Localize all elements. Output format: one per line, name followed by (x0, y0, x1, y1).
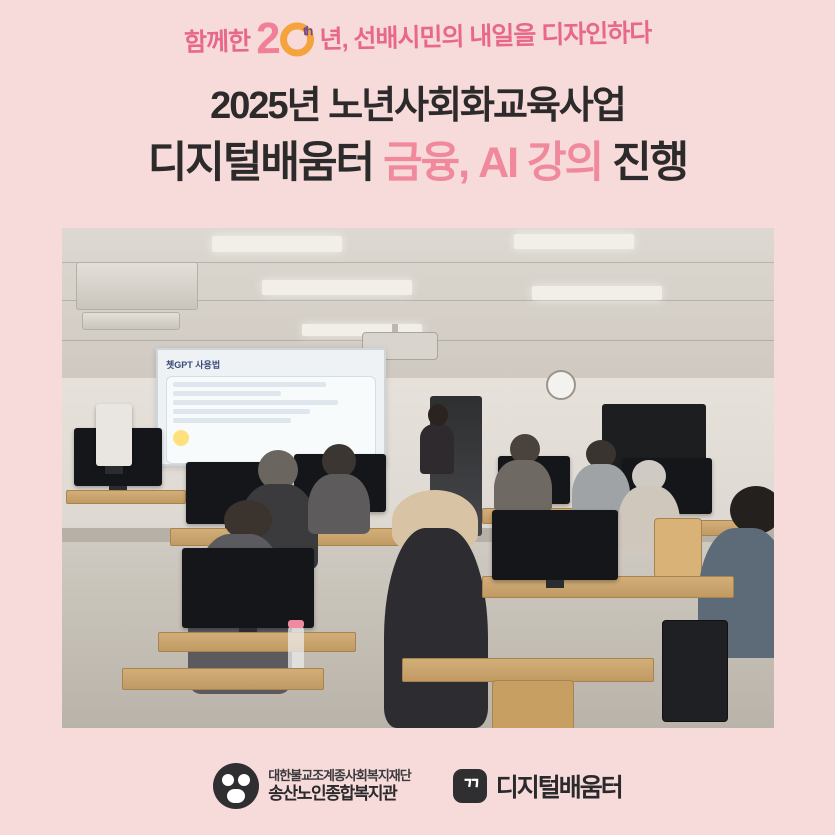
ribbon-digit: 2 (255, 14, 279, 63)
participant-head (730, 486, 774, 534)
headline-line2-highlight: 금융, AI 강의 (383, 139, 602, 187)
top-ribbon: 함께한 2 th 년, 선배시민의 내일을 디자인하다 (0, 0, 835, 72)
promo-card: 함께한 2 th 년, 선배시민의 내일을 디자인하다 2025년 노년사회화교… (0, 0, 835, 835)
footer-logos: 대한불교조계종사회복지재단 송산노인종합복지관 ᄁ 디지털배움터 (0, 755, 835, 817)
participant (384, 528, 488, 728)
instructor-head (428, 404, 448, 426)
chair (654, 518, 702, 578)
ribbon-anniversary-number: 2 th (255, 16, 313, 61)
desk (122, 668, 324, 690)
chair (492, 680, 574, 728)
instructor (420, 424, 454, 474)
wall-clock (546, 370, 576, 400)
headline-line2: 디지털배움터 금융, AI 강의 진행 (0, 138, 835, 190)
headline-line2-post: 진행 (602, 139, 687, 187)
ribbon-prefix: 함께한 (184, 22, 251, 59)
headline-block: 2025년 노년사회화교육사업 디지털배움터 금융, AI 강의 진행 (0, 84, 835, 189)
chair (662, 620, 728, 722)
participant (494, 460, 552, 512)
ribbon-suffix: 년, 선배시민의 내일을 디자인하다 (319, 13, 651, 56)
foundation-name: 대한불교조계종사회복지재단 (268, 769, 410, 784)
participant (308, 474, 370, 534)
digital-badoomteo-glyph: ᄁ (462, 772, 481, 802)
presenter-tablet (96, 404, 132, 466)
desk (66, 490, 186, 504)
headline-line2-pre: 디지털배움터 (148, 139, 383, 187)
foundation-logo: 대한불교조계종사회복지재단 송산노인종합복지관 (213, 763, 410, 809)
participant-head (322, 444, 356, 478)
ribbon-superscript: th (303, 24, 312, 37)
center-name: 송산노인종합복지관 (268, 784, 410, 804)
water-bottle-cap (288, 620, 304, 628)
digital-badoomteo-icon: ᄁ (453, 769, 487, 803)
desk (158, 632, 356, 652)
slide-accent-dot (173, 430, 189, 446)
projection-screen: 쳇GPT 사용법 (156, 348, 386, 466)
desk (402, 658, 654, 682)
foundation-seal-icon (213, 763, 259, 809)
slide-title: 쳇GPT 사용법 (166, 358, 376, 371)
digital-badoomteo-logo: ᄁ 디지털배움터 (453, 768, 622, 804)
digital-badoomteo-label: 디지털배움터 (496, 768, 622, 804)
headline-line1: 2025년 노년사회화교육사업 (0, 84, 835, 130)
monitor (492, 510, 618, 580)
classroom-photo: 쳇GPT 사용법 (62, 228, 774, 728)
monitor (182, 548, 314, 628)
